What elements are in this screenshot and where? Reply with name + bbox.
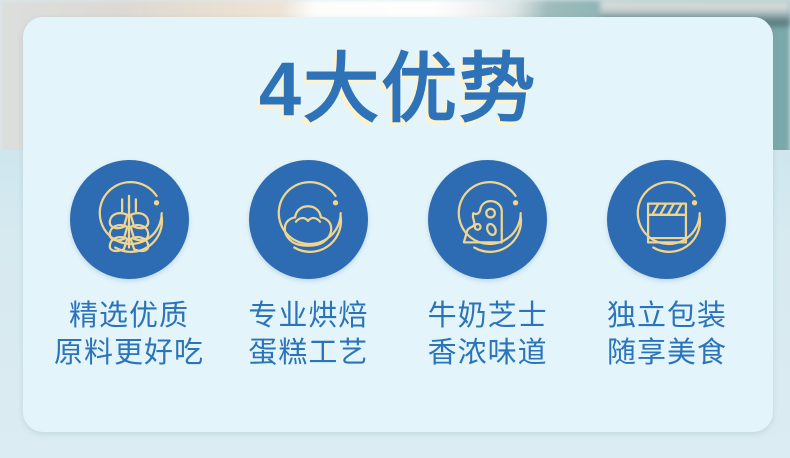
feature-icon-circle-3 — [428, 160, 547, 279]
feature-item-2[interactable]: 专业烘焙 蛋糕工艺 — [223, 160, 393, 372]
feature-item-1[interactable]: 精选优质 原料更好吃 — [44, 160, 214, 372]
feature-item-4[interactable]: 独立包装 随享美食 — [582, 160, 752, 372]
feature-label-1: 精选优质 原料更好吃 — [54, 298, 204, 372]
feature-label-4: 独立包装 随享美食 — [607, 298, 727, 372]
bread-loaf-icon — [265, 177, 351, 263]
feature-label-4-line1: 独立包装 — [607, 300, 727, 332]
wheat-icon — [86, 177, 172, 263]
feature-card: 4大优势 — [23, 17, 773, 432]
feature-label-3: 牛奶芝士 香浓味道 — [428, 298, 548, 372]
feature-label-1-line1: 精选优质 — [69, 300, 189, 332]
cheese-wedge-icon — [445, 177, 531, 263]
feature-label-3-line2: 香浓味道 — [428, 335, 548, 372]
page-title: 4大优势 — [23, 47, 773, 133]
feature-label-2-line2: 蛋糕工艺 — [248, 335, 368, 372]
promo-banner: 4大优势 — [0, 0, 790, 458]
feature-list: 精选优质 原料更好吃 — [23, 160, 773, 372]
feature-icon-circle-2 — [249, 160, 368, 279]
feature-label-4-line2: 随享美食 — [607, 335, 727, 372]
sealed-package-icon — [624, 177, 710, 263]
feature-label-2: 专业烘焙 蛋糕工艺 — [248, 298, 368, 372]
feature-icon-circle-4 — [607, 160, 726, 279]
feature-label-2-line1: 专业烘焙 — [248, 300, 368, 332]
feature-label-3-line1: 牛奶芝士 — [428, 300, 548, 332]
feature-item-3[interactable]: 牛奶芝士 香浓味道 — [403, 160, 573, 372]
feature-icon-circle-1 — [70, 160, 189, 279]
feature-label-1-line2: 原料更好吃 — [54, 335, 204, 372]
